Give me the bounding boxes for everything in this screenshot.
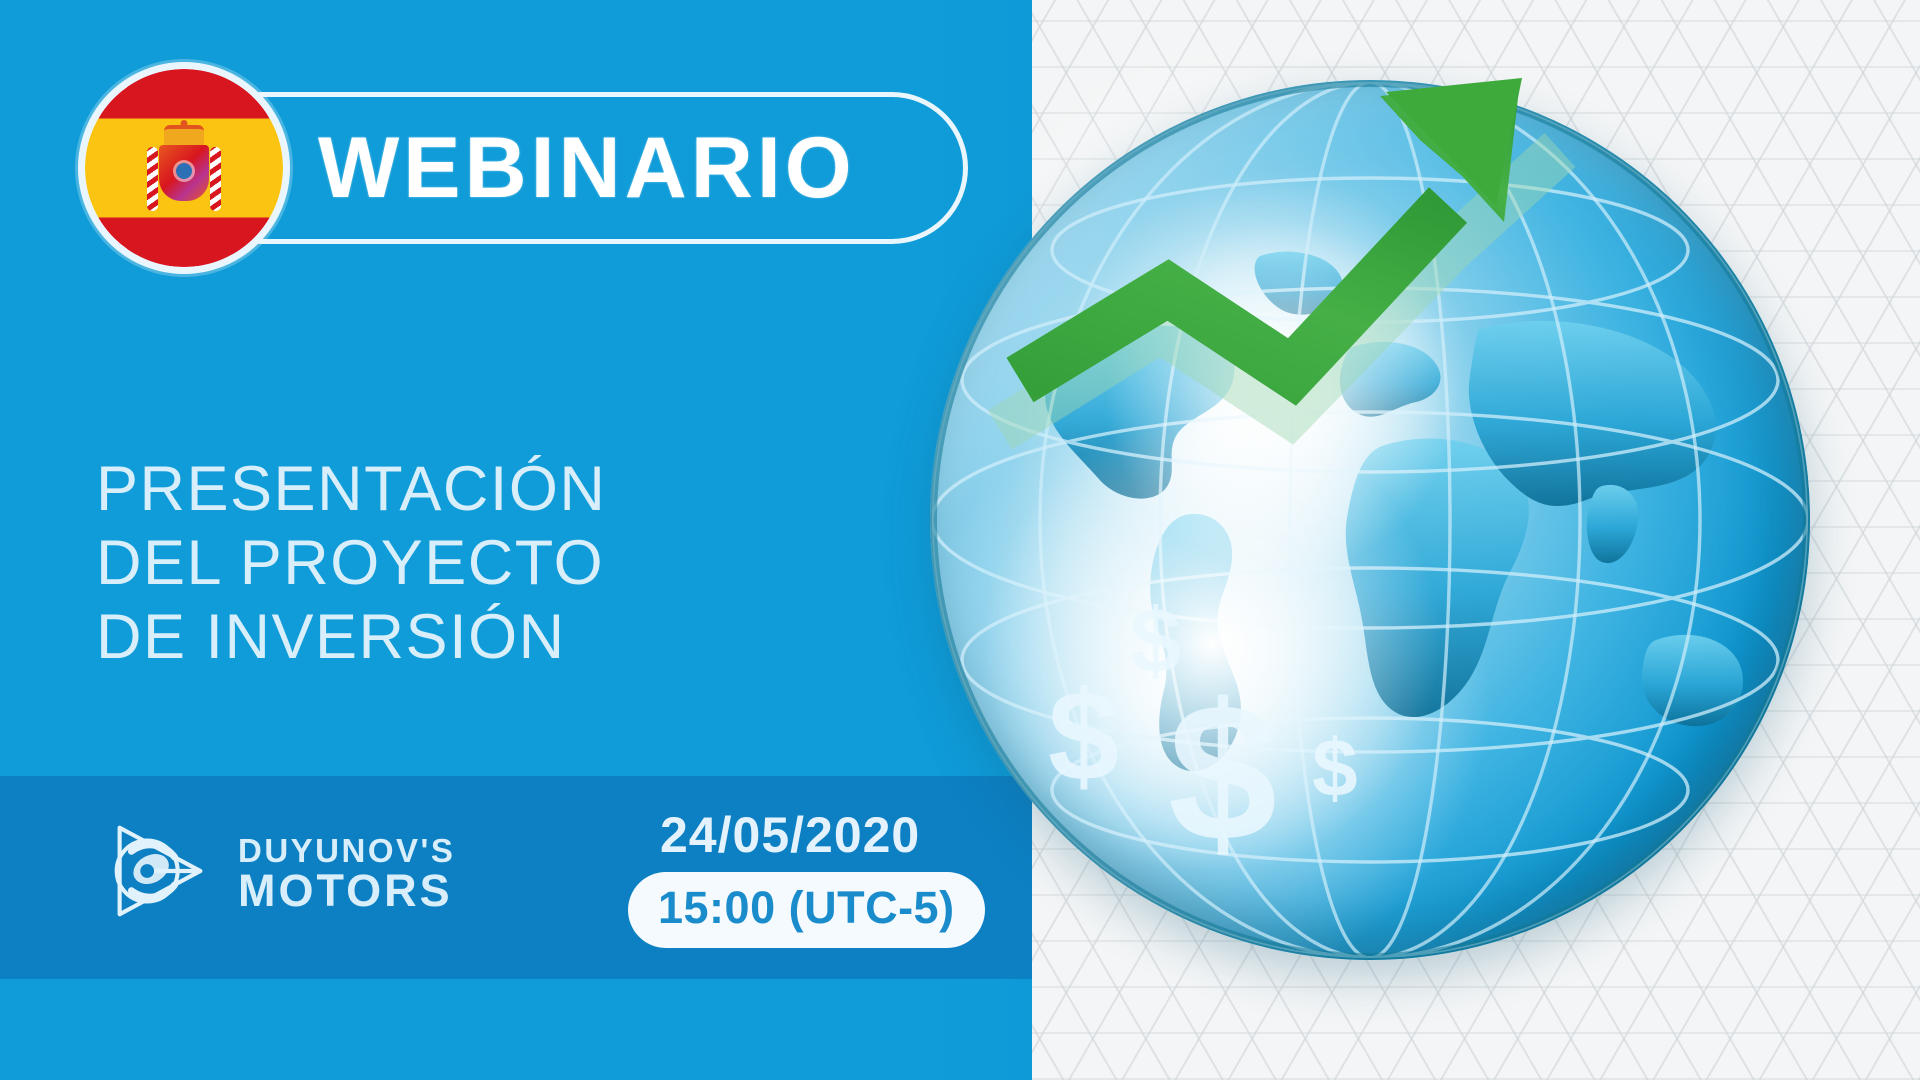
- brand-line-2: MOTORS: [238, 871, 455, 911]
- spain-coat-of-arms-icon: [151, 129, 217, 215]
- event-time-badge: 15:00 (UTC-5): [628, 872, 985, 948]
- globe-sphere: $ $ $ $: [930, 80, 1810, 960]
- event-date: 24/05/2020: [660, 806, 920, 864]
- banner-canvas: $ $ $ $: [0, 0, 1920, 1080]
- headline-line-3: DE INVERSIÓN: [96, 600, 606, 674]
- globe-illustration: $ $ $ $: [930, 80, 1810, 960]
- brand-lockup: DUYUNOV'S MOTORS: [98, 812, 455, 930]
- brand-wordmark: DUYUNOV'S MOTORS: [238, 831, 455, 911]
- headline-line-1: PRESENTACIÓN: [96, 452, 606, 526]
- spain-flag-badge: [78, 62, 290, 274]
- duyunov-motors-logo-icon: [98, 812, 216, 930]
- webinar-title: WEBINARIO: [318, 118, 856, 218]
- globe-rim: [930, 80, 1810, 960]
- page-title: PRESENTACIÓN DEL PROYECTO DE INVERSIÓN: [96, 452, 606, 674]
- spain-flag-icon: [85, 69, 283, 267]
- headline-line-2: DEL PROYECTO: [96, 526, 606, 600]
